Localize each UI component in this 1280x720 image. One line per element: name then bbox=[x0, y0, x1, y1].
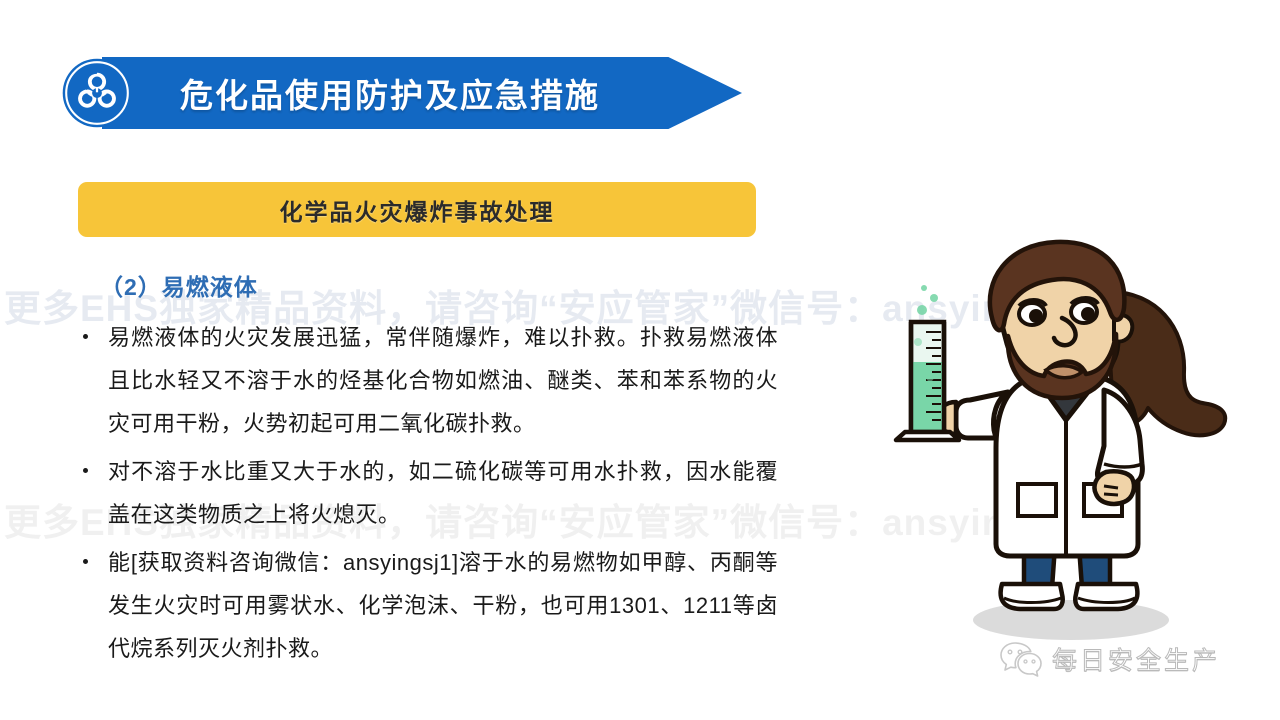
page-title: 危化品使用防护及应急措施 bbox=[180, 69, 600, 117]
list-item-text: 对不溶于水比重又大于水的，如二硫化碳等可用水扑救，因水能覆盖在这类物质之上将火熄… bbox=[108, 459, 778, 527]
title-banner: 危化品使用防护及应急措施 bbox=[62, 57, 742, 129]
brand-label: 每日安全生产 bbox=[1052, 641, 1220, 677]
section-heading: （2）易燃液体 bbox=[100, 268, 778, 302]
brand-logo: 每日安全生产 bbox=[1000, 640, 1220, 678]
list-item-text: 能[获取资料咨询微信：ansyingsj1]溶于水的易燃物如甲醇、丙酮等发生火灾… bbox=[108, 550, 778, 661]
section-subtitle-label: 化学品火灾爆炸事故处理 bbox=[280, 193, 555, 227]
list-item: 能[获取资料咨询微信：ansyingsj1]溶于水的易燃物如甲醇、丙酮等发生火灾… bbox=[78, 541, 778, 670]
bullet-list: 易燃液体的火灾发展迅猛，常伴随爆炸，难以扑救。扑救易燃液体且比水轻又不溶于水的烃… bbox=[78, 316, 778, 670]
bullet-dot-icon bbox=[83, 468, 88, 473]
list-item: 易燃液体的火灾发展迅猛，常伴随爆炸，难以扑救。扑救易燃液体且比水轻又不溶于水的烃… bbox=[78, 316, 778, 445]
biohazard-icon bbox=[62, 58, 132, 128]
content-block: （2）易燃液体 易燃液体的火灾发展迅猛，常伴随爆炸，难以扑救。扑救易燃液体且比水… bbox=[78, 268, 778, 675]
bullet-dot-icon bbox=[83, 559, 88, 564]
cartoon-scientist-illustration bbox=[856, 232, 1276, 652]
slide-canvas: 更多EHS独家精品资料，请咨询“安应管家”微信号：ansyingsj1 更多EH… bbox=[0, 0, 1280, 720]
list-item-text: 易燃液体的火灾发展迅猛，常伴随爆炸，难以扑救。扑救易燃液体且比水轻又不溶于水的烃… bbox=[108, 325, 778, 436]
bullet-dot-icon bbox=[83, 334, 88, 339]
wechat-icon bbox=[1000, 640, 1042, 678]
list-item: 对不溶于水比重又大于水的，如二硫化碳等可用水扑救，因水能覆盖在这类物质之上将火熄… bbox=[78, 450, 778, 536]
section-subtitle-bar: 化学品火灾爆炸事故处理 bbox=[78, 182, 756, 237]
